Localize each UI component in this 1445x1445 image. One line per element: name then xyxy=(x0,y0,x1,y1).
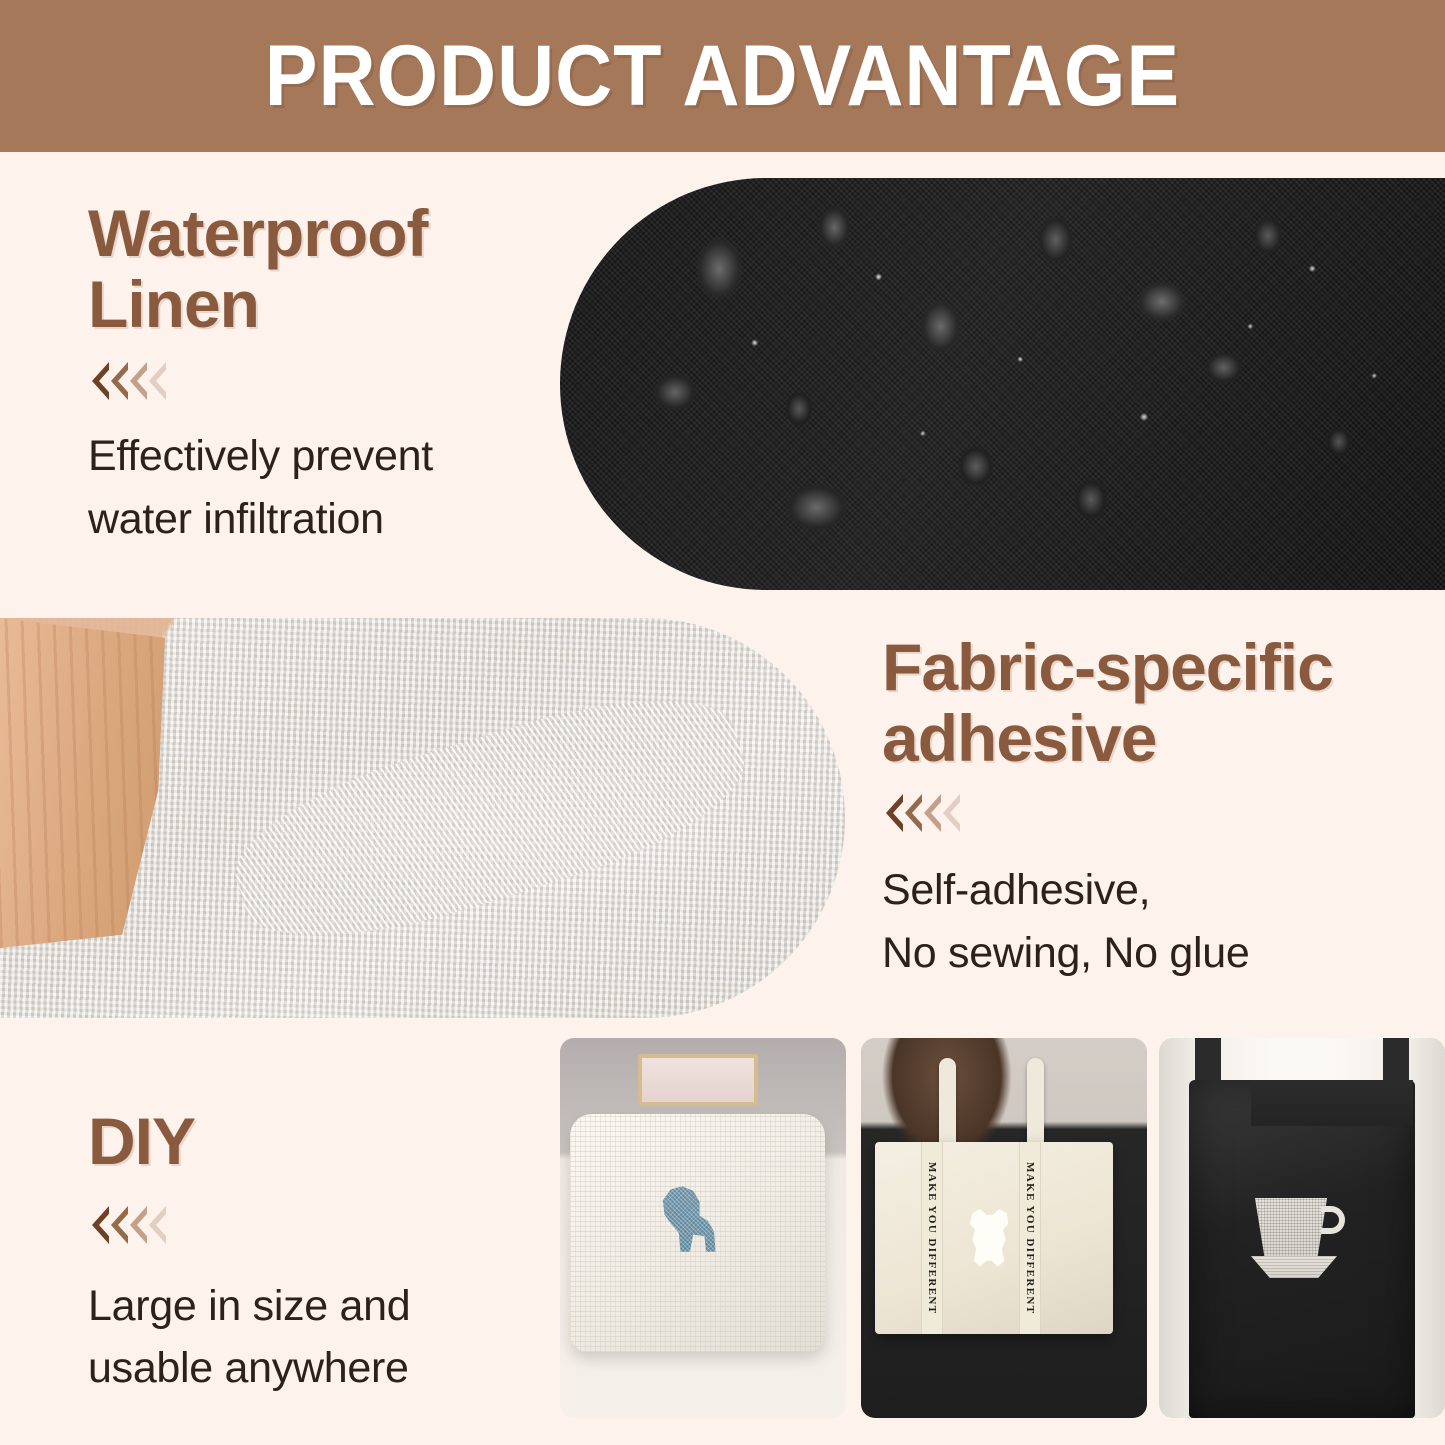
header-banner: PRODUCT ADVANTAGE xyxy=(0,0,1445,152)
apron-strap-left xyxy=(1195,1038,1221,1086)
tote-strap-left: MAKE YOU DIFFERENT xyxy=(921,1142,943,1334)
chevron-left-icon xyxy=(924,794,941,832)
apron-strap-right xyxy=(1383,1038,1409,1086)
feature-heading-diy: DIY xyxy=(88,1106,528,1177)
feature-body-line2-waterproof: water infiltration xyxy=(88,488,548,550)
teacup-handle xyxy=(1321,1206,1345,1234)
chevron-left-icon xyxy=(92,1206,109,1244)
chevron-left-icon xyxy=(905,794,922,832)
tote-strap-text: MAKE YOU DIFFERENT xyxy=(1024,1162,1036,1315)
waterproof-fabric-image xyxy=(560,178,1445,590)
feature-block-adhesive: Fabric-specific adhesive Self-adhesive, … xyxy=(882,632,1422,984)
feature-block-diy: DIY Large in size and usable anywhere xyxy=(88,1106,528,1399)
hand-holding-fabric xyxy=(0,618,165,948)
fabric-frayed-edge xyxy=(218,665,762,970)
chevron-left-icon xyxy=(130,1206,147,1244)
tote-handle xyxy=(939,1058,956,1154)
feature-body-line2-adhesive: No sewing, No glue xyxy=(882,922,1422,984)
linen-fabric-image xyxy=(0,618,845,1018)
page-title: PRODUCT ADVANTAGE xyxy=(265,33,1180,119)
gallery-photo-pillow xyxy=(560,1038,846,1418)
gallery-photo-apron xyxy=(1159,1038,1445,1418)
chevron-left-icon xyxy=(92,362,109,400)
chevron-left-icon xyxy=(111,1206,128,1244)
tote-strap-right: MAKE YOU DIFFERENT xyxy=(1019,1142,1041,1334)
feature-body-line1-waterproof: Effectively prevent xyxy=(88,425,548,487)
feature-body-line1-diy: Large in size and xyxy=(88,1275,528,1337)
feature-heading-adhesive: Fabric-specific adhesive xyxy=(882,632,1422,773)
teacup-saucer xyxy=(1251,1256,1337,1278)
chevron-divider-icon xyxy=(92,1205,528,1245)
chevron-left-icon xyxy=(149,362,166,400)
teacup-patch-icon xyxy=(1251,1198,1351,1276)
teacup-body xyxy=(1255,1198,1327,1260)
feature-body-line1-adhesive: Self-adhesive, xyxy=(882,859,1422,921)
feature-body-line2-diy: usable anywhere xyxy=(88,1337,528,1399)
chevron-divider-icon xyxy=(886,793,1422,833)
tote-handle xyxy=(1027,1058,1044,1154)
apron-bib xyxy=(1251,1080,1413,1126)
feature-heading-waterproof: Waterproof Linen xyxy=(88,198,548,339)
tote-strap-text: MAKE YOU DIFFERENT xyxy=(926,1162,938,1315)
gallery-photo-tote: MAKE YOU DIFFERENT MAKE YOU DIFFERENT xyxy=(861,1038,1147,1418)
chevron-left-icon xyxy=(111,362,128,400)
chevron-left-icon xyxy=(130,362,147,400)
chevron-left-icon xyxy=(149,1206,166,1244)
background-picture-frame xyxy=(638,1054,758,1106)
feature-block-waterproof: Waterproof Linen Effectively prevent wat… xyxy=(88,198,548,550)
chevron-divider-icon xyxy=(92,361,548,401)
chevron-left-icon xyxy=(943,794,960,832)
chevron-left-icon xyxy=(886,794,903,832)
